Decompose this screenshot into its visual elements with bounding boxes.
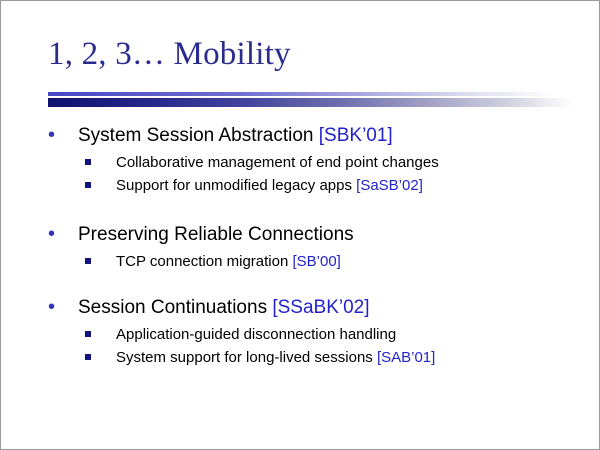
divider-bar-thick <box>48 98 573 107</box>
bullet-dot-icon: • <box>41 295 78 320</box>
bullet-group: • Session Continuations [SSaBK’02] Appli… <box>41 295 591 370</box>
spacer <box>41 198 591 222</box>
bullet-text: Preserving Reliable Connections <box>78 222 354 247</box>
bullet-label: System Session Abstraction <box>78 125 319 146</box>
sub-bullet-item: Application-guided disconnection handlin… <box>41 324 591 347</box>
title-divider <box>48 92 573 108</box>
sub-bullet-label: Support for unmodified legacy apps <box>116 177 356 194</box>
sub-bullet-square-icon <box>41 175 116 188</box>
bullet-group: • System Session Abstraction [SBK’01] Co… <box>41 123 591 198</box>
bullet-text: Session Continuations [SSaBK’02] <box>78 295 370 320</box>
sub-bullet-square-icon <box>41 152 116 165</box>
sub-bullet-item: Support for unmodified legacy apps [SaSB… <box>41 175 591 198</box>
sub-bullet-label: Application-guided disconnection handlin… <box>116 326 396 343</box>
sub-bullet-text: Support for unmodified legacy apps [SaSB… <box>116 175 423 196</box>
sub-bullet-square-icon <box>41 347 116 360</box>
citation-reference: [SAB’01] <box>377 349 435 366</box>
sub-bullet-label: Collaborative management of end point ch… <box>116 154 439 171</box>
sub-bullet-label: System support for long-lived sessions <box>116 349 377 366</box>
sub-bullet-item: System support for long-lived sessions [… <box>41 347 591 370</box>
citation-reference: [SB’00] <box>292 253 340 270</box>
spacer <box>41 274 591 295</box>
sub-bullet-text: Collaborative management of end point ch… <box>116 152 439 173</box>
bullet-label: Preserving Reliable Connections <box>78 224 354 245</box>
sub-bullet-item: Collaborative management of end point ch… <box>41 152 591 175</box>
bullet-item: • Preserving Reliable Connections <box>41 222 591 251</box>
bullet-dot-icon: • <box>41 222 78 247</box>
sub-bullet-text: Application-guided disconnection handlin… <box>116 324 396 345</box>
slide-body: • System Session Abstraction [SBK’01] Co… <box>41 123 591 370</box>
divider-bar-thin <box>48 92 556 96</box>
citation-reference: [SBK’01] <box>319 125 393 146</box>
bullet-label: Session Continuations <box>78 297 272 318</box>
bullet-group: • Preserving Reliable Connections TCP co… <box>41 222 591 274</box>
bullet-item: • System Session Abstraction [SBK’01] <box>41 123 591 152</box>
bullet-item: • Session Continuations [SSaBK’02] <box>41 295 591 324</box>
bullet-dot-icon: • <box>41 123 78 148</box>
slide-title-block: 1, 2, 3… Mobility <box>48 35 578 73</box>
bullet-text: System Session Abstraction [SBK’01] <box>78 123 393 148</box>
page-title: 1, 2, 3… Mobility <box>48 35 578 73</box>
sub-bullet-text: System support for long-lived sessions [… <box>116 347 435 368</box>
sub-bullet-square-icon <box>41 251 116 264</box>
citation-reference: [SaSB’02] <box>356 177 423 194</box>
sub-bullet-square-icon <box>41 324 116 337</box>
presentation-slide: 1, 2, 3… Mobility • System Session Abstr… <box>0 0 600 450</box>
sub-bullet-text: TCP connection migration [SB’00] <box>116 251 341 272</box>
sub-bullet-label: TCP connection migration <box>116 253 292 270</box>
citation-reference: [SSaBK’02] <box>272 297 369 318</box>
sub-bullet-item: TCP connection migration [SB’00] <box>41 251 591 274</box>
